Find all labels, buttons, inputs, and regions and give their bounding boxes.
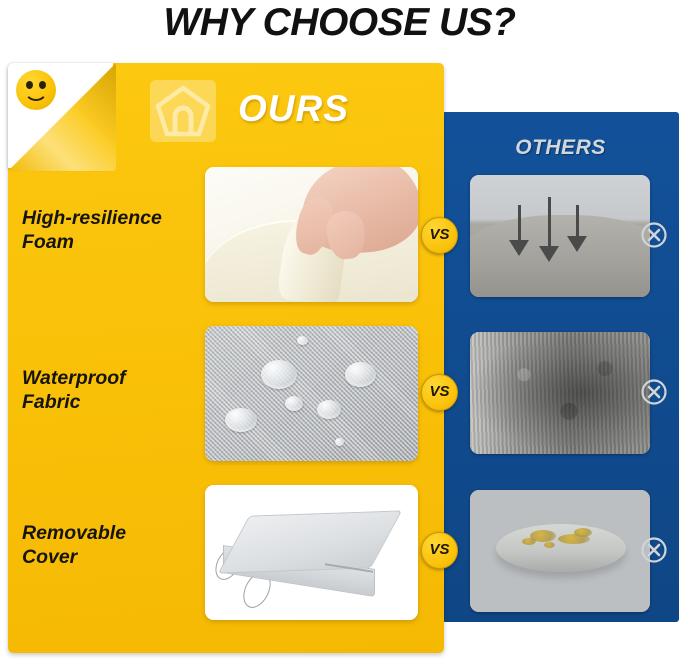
ours-image-card-cover — [205, 485, 418, 620]
round-cushion-shape — [496, 524, 626, 572]
stained-cushion-illustration — [470, 490, 650, 612]
circle-x-icon — [640, 378, 668, 406]
down-arrow-icon — [576, 205, 579, 237]
feature-label-line2: Fabric — [22, 391, 81, 413]
sagging-material-illustration — [470, 175, 650, 297]
feature-label-line2: Cover — [22, 546, 77, 568]
smiley-face-icon — [16, 70, 56, 110]
others-image-card-foam — [470, 175, 650, 297]
ours-image-card-foam — [205, 167, 418, 302]
cushion-top-face — [218, 510, 402, 573]
waterproof-fabric-illustration — [205, 326, 418, 461]
circle-x-icon — [640, 221, 668, 249]
feature-label-foam: High-resilience Foam — [22, 206, 197, 254]
water-droplet — [335, 438, 344, 446]
feature-label-line2: Foam — [22, 231, 74, 253]
vs-badge: VS — [421, 217, 458, 254]
water-droplet — [297, 336, 308, 345]
smiley-mouth — [24, 84, 48, 101]
water-droplet — [317, 400, 341, 419]
water-droplet — [285, 396, 303, 411]
sagging-surface — [470, 215, 650, 297]
stain-mark — [522, 538, 536, 545]
water-droplet — [261, 360, 297, 389]
water-droplet — [345, 362, 376, 387]
ours-heading: OURS — [238, 88, 349, 130]
house-pentagon-logo-icon — [150, 80, 216, 142]
down-arrow-icon — [518, 205, 521, 241]
others-image-card-fabric — [470, 332, 650, 454]
soaked-fabric-illustration — [470, 332, 650, 454]
water-droplet — [225, 408, 257, 432]
feature-label-line1: High-resilience — [22, 207, 162, 229]
feature-label-line1: Waterproof — [22, 367, 126, 389]
stain-mark — [544, 542, 555, 548]
feature-label-cover: Removable Cover — [22, 521, 197, 569]
down-arrow-icon — [548, 197, 551, 247]
foam-pinch-illustration — [205, 167, 418, 302]
page-title: WHY CHOOSE US? — [0, 0, 679, 50]
feature-label-line1: Removable — [22, 522, 126, 544]
ours-image-card-fabric — [205, 326, 418, 461]
others-image-card-cover — [470, 490, 650, 612]
feature-label-fabric: Waterproof Fabric — [22, 366, 197, 414]
circle-x-icon — [640, 536, 668, 564]
vs-badge: VS — [421, 532, 458, 569]
stain-mark — [574, 528, 592, 537]
vs-badge: VS — [421, 374, 458, 411]
removable-cover-illustration — [205, 485, 418, 620]
others-heading: OTHERS — [442, 136, 679, 160]
